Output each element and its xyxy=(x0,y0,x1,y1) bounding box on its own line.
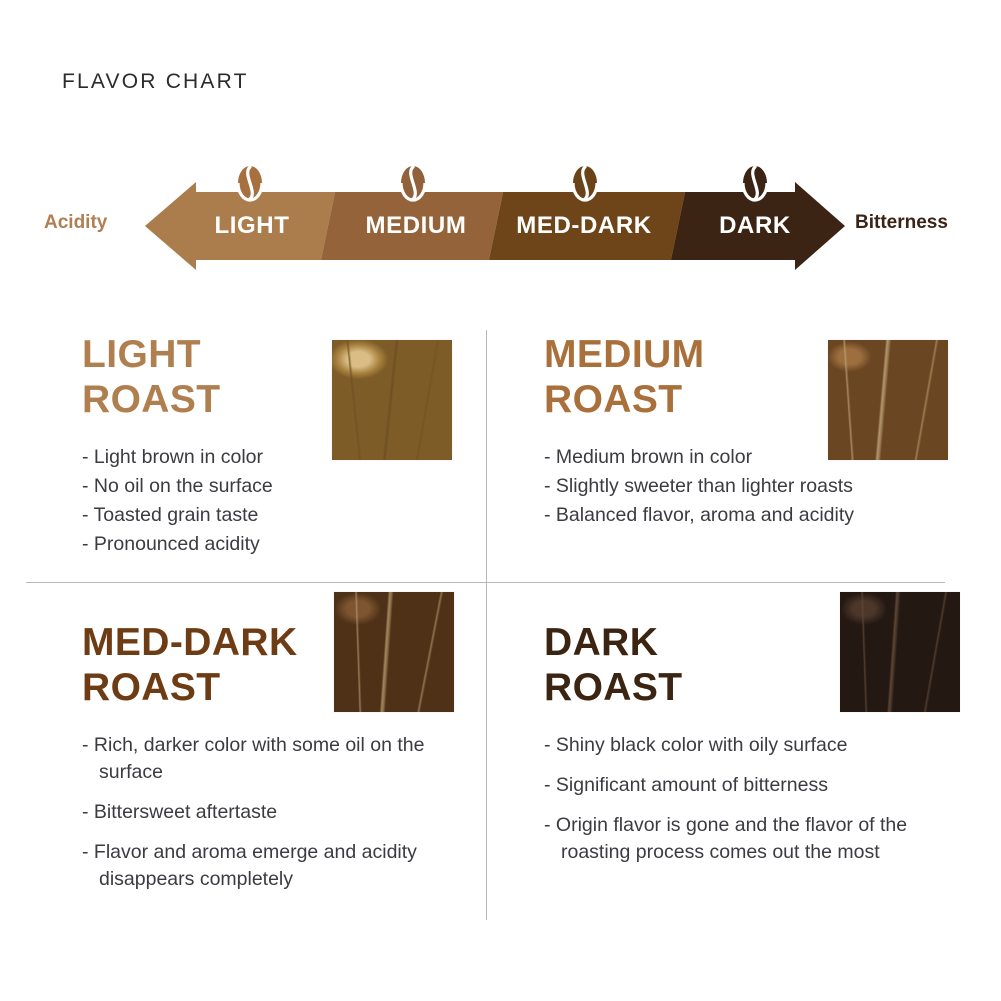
dark-roast-photo xyxy=(840,592,960,712)
bitterness-axis-label: Bitterness xyxy=(855,212,948,234)
flavor-scale xyxy=(0,160,1001,280)
coffee-bean-icon xyxy=(568,165,602,209)
roast-bullets-med-dark: - Rich, darker color with some oil on th… xyxy=(82,732,462,893)
light-roast-photo xyxy=(332,340,452,460)
coffee-bean-icon xyxy=(233,165,267,209)
list-item: - Rich, darker color with some oil on th… xyxy=(82,732,462,786)
list-item: - Bittersweet aftertaste xyxy=(82,799,462,826)
flavor-scale-arrow xyxy=(0,160,1001,280)
vertical-divider xyxy=(486,330,487,920)
list-item: - No oil on the surface xyxy=(82,473,462,500)
medium-roast-photo xyxy=(828,340,948,460)
list-item: - Balanced flavor, aroma and acidity xyxy=(544,502,944,529)
list-item: - Shiny black color with oily surface xyxy=(544,732,944,759)
list-item: - Flavor and aroma emerge and acidity di… xyxy=(82,839,462,893)
list-item: - Significant amount of bitterness xyxy=(544,772,944,799)
med-dark-roast-photo xyxy=(334,592,454,712)
list-item: - Toasted grain taste xyxy=(82,502,462,529)
list-item: - Slightly sweeter than lighter roasts xyxy=(544,473,944,500)
list-item: - Pronounced acidity xyxy=(82,531,462,558)
coffee-bean-icon xyxy=(396,165,430,209)
acidity-axis-label: Acidity xyxy=(44,212,107,234)
page-title: FLAVOR CHART xyxy=(62,70,249,94)
roast-bullets-dark: - Shiny black color with oily surface - … xyxy=(544,732,944,866)
list-item: - Origin flavor is gone and the flavor o… xyxy=(544,812,944,866)
roast-bullets-light: - Light brown in color - No oil on the s… xyxy=(82,444,462,558)
coffee-bean-icon xyxy=(738,165,772,209)
